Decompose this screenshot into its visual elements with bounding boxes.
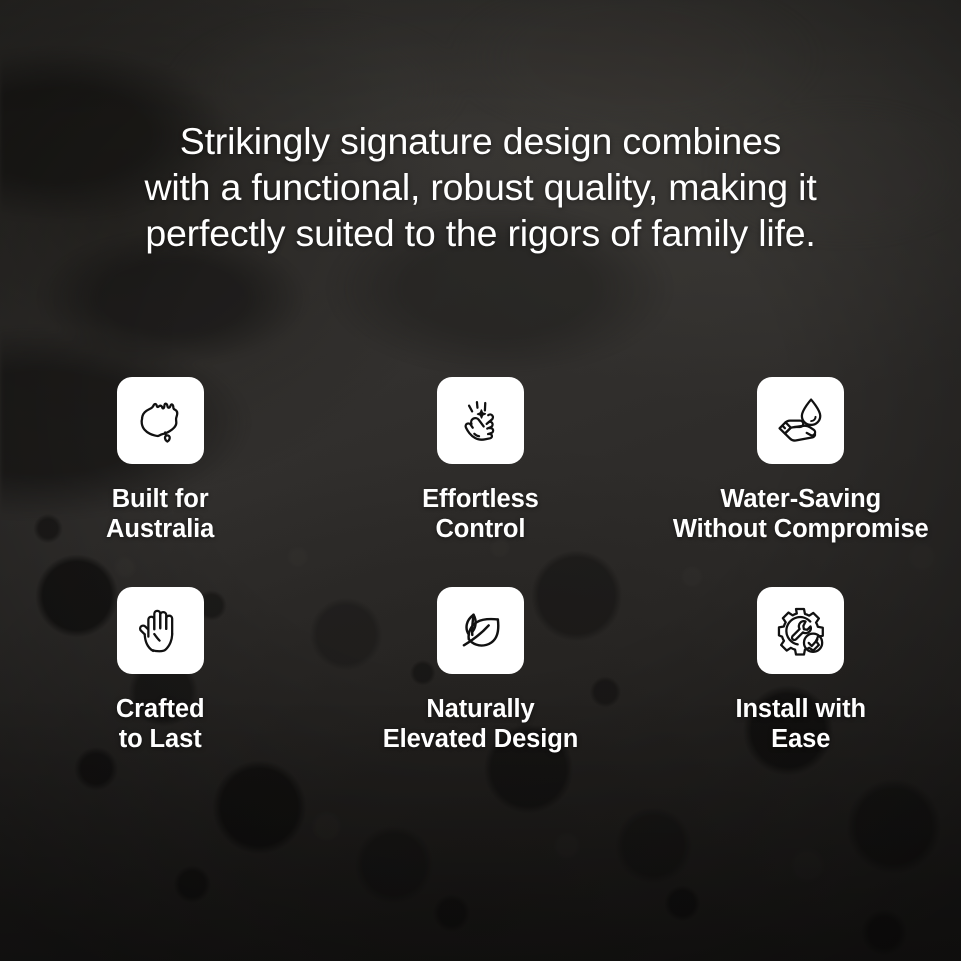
promo-card: Strikingly signature design combines wit… — [0, 0, 961, 961]
gear-wrench-check-icon — [773, 603, 829, 659]
icon-tile — [757, 377, 844, 464]
feature-grid: Built for Australia — [0, 377, 961, 754]
feature-label: Install with Ease — [735, 694, 866, 754]
feature-built-for-australia: Built for Australia — [0, 377, 320, 544]
feature-effortless-control: Effortless Control — [320, 377, 640, 544]
open-hand-icon — [132, 603, 188, 659]
hand-water-drop-icon — [773, 393, 829, 449]
icon-tile — [437, 377, 524, 464]
snapping-fingers-icon — [452, 393, 508, 449]
feature-naturally-elevated-design: Naturally Elevated Design — [320, 587, 640, 754]
feature-label: Built for Australia — [106, 484, 214, 544]
feature-label: Effortless Control — [422, 484, 539, 544]
feature-label: Naturally Elevated Design — [383, 694, 579, 754]
icon-tile — [117, 377, 204, 464]
feature-water-saving: Water-Saving Without Compromise — [641, 377, 961, 544]
two-leaves-icon — [452, 603, 508, 659]
headline: Strikingly signature design combines wit… — [0, 118, 961, 256]
icon-tile — [117, 587, 204, 674]
feature-crafted-to-last: Crafted to Last — [0, 587, 320, 754]
feature-label: Water-Saving Without Compromise — [673, 484, 929, 544]
feature-install-with-ease: Install with Ease — [641, 587, 961, 754]
icon-tile — [437, 587, 524, 674]
content: Strikingly signature design combines wit… — [0, 0, 961, 961]
australia-map-icon — [132, 393, 188, 449]
row-spacer — [0, 544, 961, 587]
feature-label: Crafted to Last — [116, 694, 205, 754]
icon-tile — [757, 587, 844, 674]
